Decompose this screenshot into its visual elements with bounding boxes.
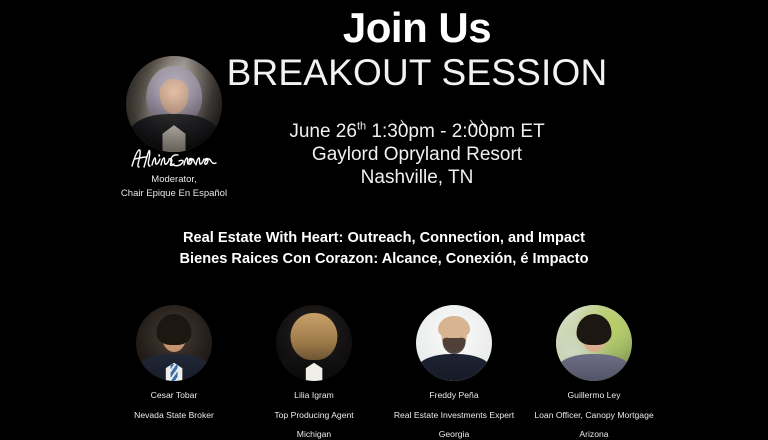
slashed-zero-glyph: 0: [468, 120, 479, 143]
moderator-block: Moderator, Chair Epique En Español: [92, 56, 256, 199]
slashed-zero-glyph: 0: [398, 120, 409, 143]
panelist-hair-shape: [438, 316, 470, 339]
panelist-card: Cesar Tobar Nevada State Broker: [112, 305, 236, 440]
panelist-title: Real Estate Investments Expert: [392, 410, 516, 421]
event-time-start: 1:30pm: [371, 121, 434, 142]
event-details-block: June 26th 1:30pm - 2:00pm ET Gaylord Opr…: [232, 120, 602, 189]
panelists-row: Cesar Tobar Nevada State Broker Lilia Ig…: [112, 305, 656, 440]
moderator-signature: [92, 146, 256, 172]
moderator-role-line-1: Moderator,: [92, 174, 256, 186]
moderator-role-line-2: Chair Epique En Español: [92, 188, 256, 200]
session-title-spanish: Bienes Raices Con Corazon: Alcance, Cone…: [84, 249, 684, 270]
slashed-zero-glyph: 0: [478, 120, 489, 143]
moderator-photo: [126, 56, 222, 152]
panelist-title: Loan Officer, Canopy Mortgage: [532, 410, 656, 421]
panelist-tie-shape: [171, 364, 178, 381]
event-venue: Gaylord Opryland Resort: [232, 143, 602, 166]
panelist-photo-cesar-tobar: [136, 305, 212, 381]
breakout-session-heading: BREAKOUT SESSION: [224, 52, 610, 94]
panelist-name: Freddy Peña: [392, 390, 516, 401]
panelist-card: Lilia Igram Top Producing Agent Michigan: [252, 305, 376, 440]
panelist-hair-shape: [157, 314, 192, 344]
event-time-end: 2:00pm ET: [452, 121, 545, 142]
panelist-title: Top Producing Agent: [252, 410, 376, 421]
panelist-location: Michigan: [252, 429, 376, 440]
date-ordinal-suffix: th: [357, 121, 366, 133]
event-city: Nashville, TN: [232, 166, 602, 189]
panelist-body-shape: [558, 354, 631, 381]
panelist-photo-guillermo-ley: [556, 305, 632, 381]
panelist-name: Lilia Igram: [252, 390, 376, 401]
panelist-card: Freddy Peña Real Estate Investments Expe…: [392, 305, 516, 440]
panelist-hair-shape: [577, 314, 612, 344]
session-title-english: Real Estate With Heart: Outreach, Connec…: [84, 228, 684, 249]
time-separator: -: [435, 121, 452, 142]
panelist-body-shape: [418, 354, 491, 381]
event-datetime-line: June 26th 1:30pm - 2:00pm ET: [232, 120, 602, 143]
event-date-text: June 26: [289, 121, 357, 142]
panelist-location: Georgia: [392, 429, 516, 440]
session-titles-block: Real Estate With Heart: Outreach, Connec…: [84, 228, 684, 270]
join-us-heading: Join Us: [224, 4, 610, 52]
panelist-card: Guillermo Ley Loan Officer, Canopy Mortg…: [532, 305, 656, 440]
panelist-name: Guillermo Ley: [532, 390, 656, 401]
panelist-location: Arizona: [532, 429, 656, 440]
event-poster: Join Us BREAKOUT SESSION June 26th 1:30p…: [0, 0, 768, 432]
panelist-photo-lilia-igram: [276, 305, 352, 381]
panelist-hair-shape: [290, 313, 337, 360]
photo-vignette: [126, 56, 222, 152]
panelist-title: Nevada State Broker: [112, 410, 236, 421]
panelist-name: Cesar Tobar: [112, 390, 236, 401]
headline-block: Join Us BREAKOUT SESSION: [224, 4, 610, 94]
panelist-photo-freddy-pena: [416, 305, 492, 381]
